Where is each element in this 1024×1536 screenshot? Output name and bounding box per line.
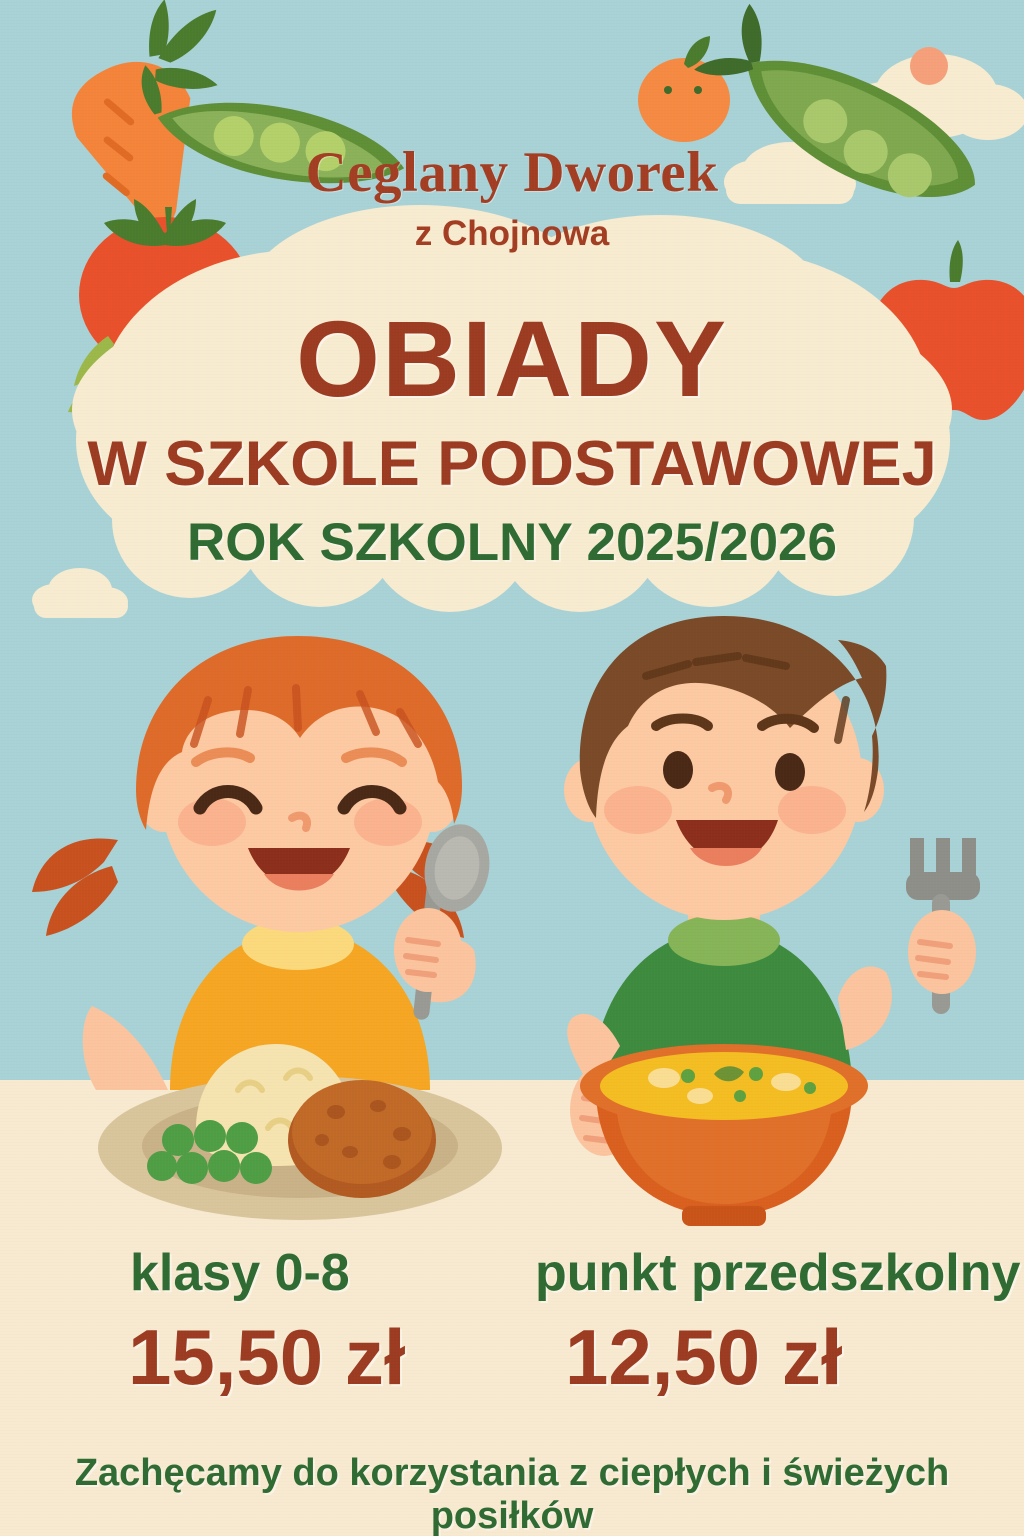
- brand-name: Ceglany Dworek: [0, 140, 1024, 205]
- footer-line-2: posiłków: [24, 1495, 1000, 1536]
- headline-secondary: W SZKOLE PODSTAWOWEJ: [0, 428, 1024, 500]
- brand-subtitle: z Chojnowa: [0, 214, 1024, 254]
- footer-message: Zachęcamy do korzystania z ciepłych i św…: [0, 1452, 1024, 1536]
- footer-line-1: Zachęcamy do korzystania z ciepłych i św…: [75, 1452, 949, 1494]
- price-label-grades: klasy 0-8: [130, 1243, 350, 1303]
- price-value-grades: 15,50 zł: [128, 1312, 406, 1403]
- price-label-preschool: punkt przedszkolny: [535, 1243, 1020, 1303]
- poster-root: Ceglany Dworek z Chojnowa OBIADY W SZKOL…: [0, 0, 1024, 1536]
- headline-primary: OBIADY: [0, 296, 1024, 421]
- headline-school-year: ROK SZKOLNY 2025/2026: [0, 512, 1024, 573]
- price-value-preschool: 12,50 zł: [565, 1312, 843, 1403]
